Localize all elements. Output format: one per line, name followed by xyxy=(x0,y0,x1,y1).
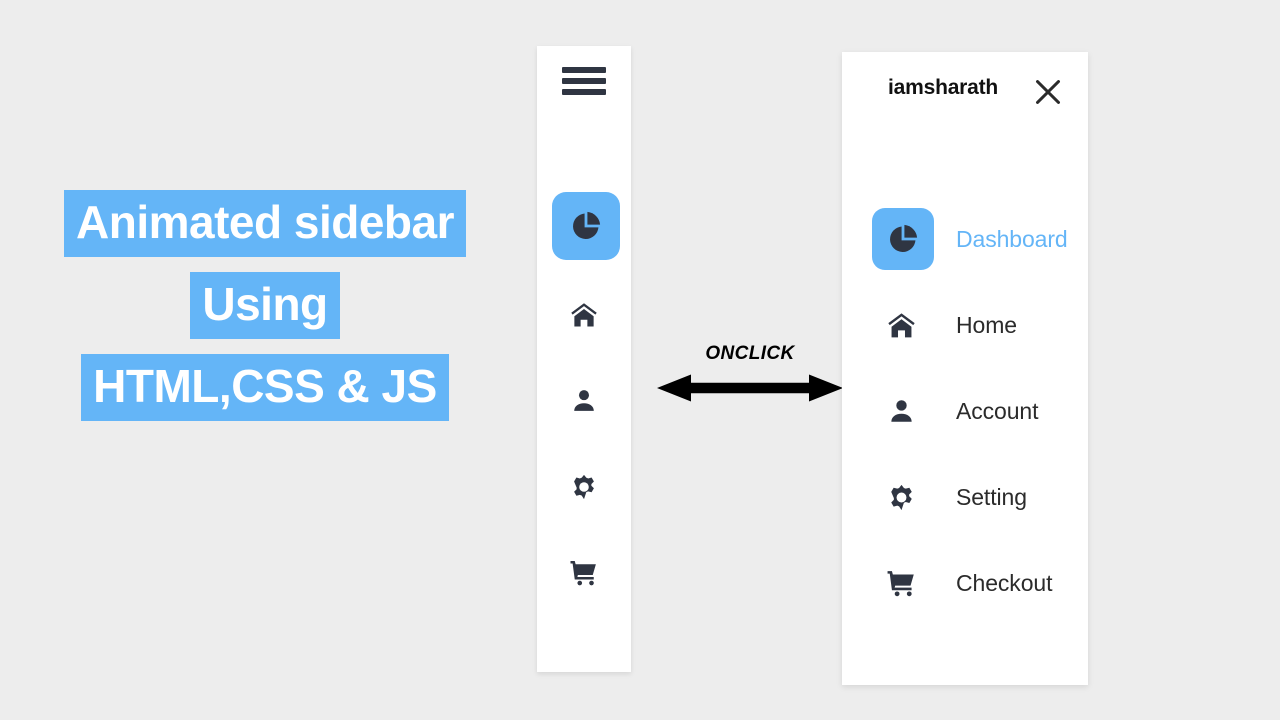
collapsed-item-dashboard[interactable] xyxy=(537,186,631,272)
title-line-3: HTML,CSS & JS xyxy=(81,354,449,421)
collapsed-menu-list xyxy=(537,186,631,616)
collapsed-item-home[interactable] xyxy=(537,272,631,358)
pie-chart-icon xyxy=(566,206,606,246)
cart-icon xyxy=(564,553,604,593)
onclick-annotation: ONCLICK xyxy=(655,343,845,405)
collapsed-item-account[interactable] xyxy=(537,358,631,444)
title-line-1: Animated sidebar xyxy=(64,190,466,257)
pie-chart-icon xyxy=(872,208,934,270)
home-icon xyxy=(564,295,604,335)
gear-icon xyxy=(564,467,604,507)
close-icon[interactable] xyxy=(1028,72,1068,112)
expanded-menu-list: Dashboard Home Account xyxy=(842,196,1088,626)
title-line-2: Using xyxy=(190,272,339,339)
double-arrow-icon xyxy=(655,371,845,405)
collapsed-item-checkout[interactable] xyxy=(537,530,631,616)
onclick-label: ONCLICK xyxy=(655,343,845,365)
menu-item-label: Dashboard xyxy=(956,226,1068,253)
expanded-sidebar-header: iamsharath xyxy=(842,52,1088,130)
hamburger-bar xyxy=(562,67,606,73)
menu-item-checkout[interactable]: Checkout xyxy=(842,540,1088,626)
active-tile xyxy=(552,192,620,260)
hamburger-bar xyxy=(562,78,606,84)
person-icon xyxy=(564,381,604,421)
home-icon xyxy=(872,296,930,354)
menu-item-dashboard[interactable]: Dashboard xyxy=(842,196,1088,282)
menu-item-label: Account xyxy=(956,398,1038,425)
hamburger-bar xyxy=(562,89,606,95)
expanded-sidebar: iamsharath Dashboard Ho xyxy=(842,52,1088,685)
collapsed-item-setting[interactable] xyxy=(537,444,631,530)
hamburger-icon[interactable] xyxy=(562,64,606,98)
menu-item-label: Setting xyxy=(956,484,1027,511)
menu-item-label: Checkout xyxy=(956,570,1052,597)
menu-item-setting[interactable]: Setting xyxy=(842,454,1088,540)
collapsed-sidebar xyxy=(537,46,631,672)
brand-title: iamsharath xyxy=(888,76,998,100)
menu-item-home[interactable]: Home xyxy=(842,282,1088,368)
menu-item-label: Home xyxy=(956,312,1017,339)
cart-icon xyxy=(872,554,930,612)
title-block: Animated sidebar Using HTML,CSS & JS xyxy=(0,190,530,421)
menu-item-account[interactable]: Account xyxy=(842,368,1088,454)
person-icon xyxy=(872,382,930,440)
gear-icon xyxy=(872,468,930,526)
